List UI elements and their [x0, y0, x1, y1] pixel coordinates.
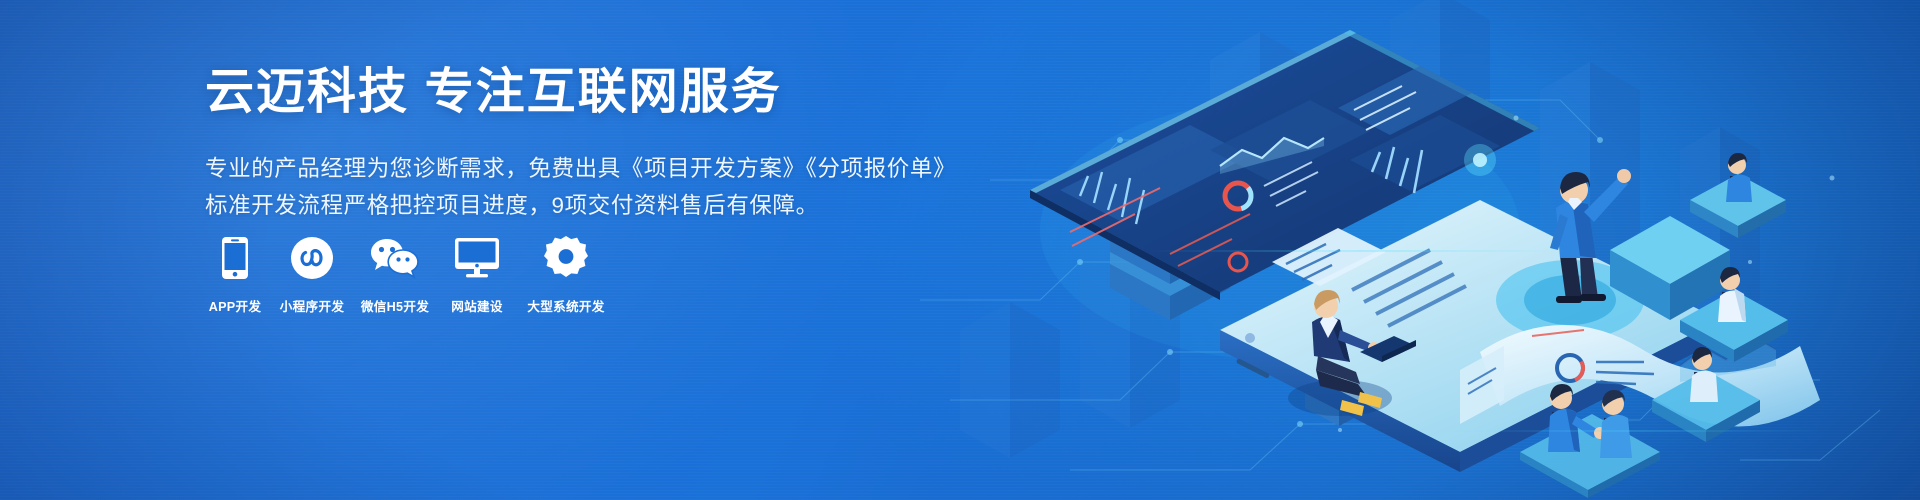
gear-icon — [544, 232, 588, 284]
service-item-website[interactable]: 网站建设 — [439, 232, 515, 315]
mini-program-icon — [291, 232, 333, 284]
subtitle-line-2: 标准开发流程严格把控项目进度，9项交付资料售后有保障。 — [205, 188, 965, 224]
service-item-wechat-h5[interactable]: 微信H5开发 — [352, 232, 438, 315]
subtitle-line-1: 专业的产品经理为您诊断需求，免费出具《项目开发方案》《分项报价单》 — [205, 151, 965, 187]
hero-subtitle: 专业的产品经理为您诊断需求，免费出具《项目开发方案》《分项报价单》 标准开发流程… — [205, 151, 965, 224]
wechat-icon — [370, 232, 420, 284]
service-label: 小程序开发 — [280, 296, 344, 315]
hero-illustration — [920, 0, 1920, 500]
mobile-phone-icon — [222, 232, 248, 284]
service-item-large-system[interactable]: 大型系统开发 — [516, 232, 616, 315]
service-label: 大型系统开发 — [527, 296, 604, 315]
service-label: 网站建设 — [451, 296, 503, 315]
hero-banner: 云迈科技 专注互联网服务 专业的产品经理为您诊断需求，免费出具《项目开发方案》《… — [0, 0, 1920, 500]
monitor-icon — [455, 232, 499, 284]
service-item-mini-program[interactable]: 小程序开发 — [273, 232, 351, 315]
page-title: 云迈科技 专注互联网服务 — [205, 62, 965, 123]
service-list: APP开发 小程序开发 微信 — [198, 232, 617, 315]
hero-content: 云迈科技 专注互联网服务 专业的产品经理为您诊断需求，免费出具《项目开发方案》《… — [205, 62, 965, 224]
service-label: 微信H5开发 — [361, 296, 429, 315]
service-label: APP开发 — [209, 296, 262, 315]
service-item-app[interactable]: APP开发 — [198, 232, 272, 315]
